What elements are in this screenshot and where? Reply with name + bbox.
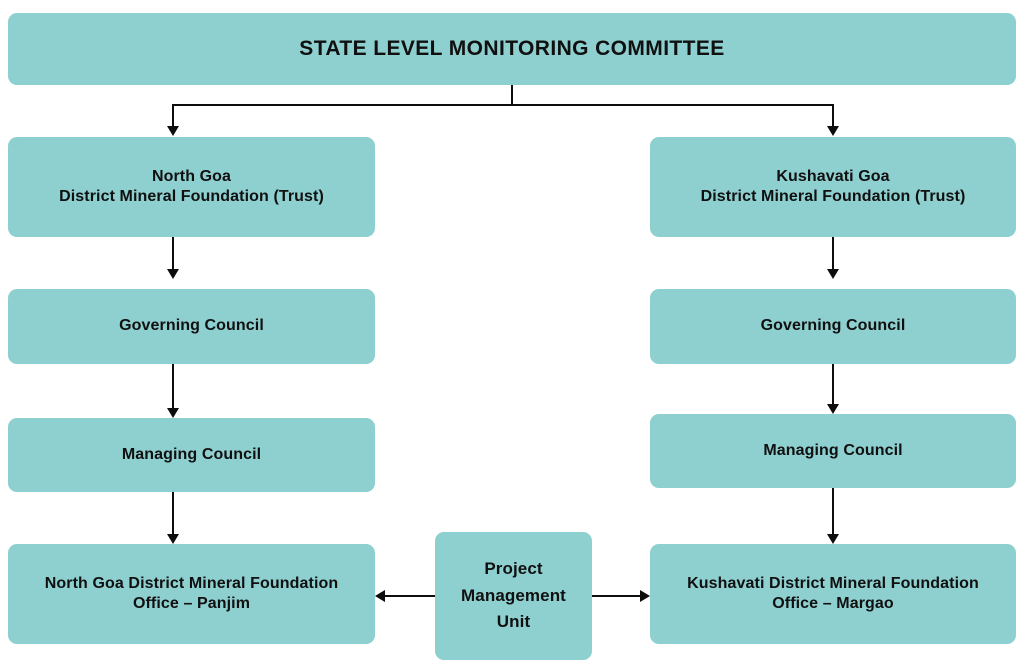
node-left-governing-council[interactable]: Governing Council (8, 289, 375, 364)
connector-pmu-to-right-office (592, 595, 640, 597)
connector-right-trust-to-governing (832, 237, 834, 269)
node-label: Managing Council (122, 445, 261, 465)
connector-left-governing-to-managing (172, 364, 174, 408)
node-kushavati-dmf-office-margao[interactable]: Kushavati District Mineral Foundation Of… (650, 544, 1016, 644)
node-right-governing-council[interactable]: Governing Council (650, 289, 1016, 364)
connector-top-to-right-trust (832, 104, 834, 126)
node-project-management-unit[interactable]: Project Management Unit (435, 532, 592, 660)
arrow-top-to-right-trust-icon (827, 126, 839, 136)
node-label-line-2: Office – Margao (772, 594, 894, 614)
node-label-line-2: Management (461, 583, 566, 609)
arrow-top-to-left-trust-icon (167, 126, 179, 136)
node-north-goa-district-mineral-foundation-trust[interactable]: North Goa District Mineral Foundation (T… (8, 137, 375, 237)
arrow-right-managing-to-office-icon (827, 534, 839, 544)
connector-pmu-to-left-office (385, 595, 435, 597)
connector-left-managing-to-office (172, 492, 174, 534)
node-label-line-2: District Mineral Foundation (Trust) (59, 187, 324, 207)
node-label-line-1: Kushavati Goa (776, 167, 889, 187)
connector-left-trust-to-governing (172, 237, 174, 269)
node-state-level-monitoring-committee[interactable]: STATE LEVEL MONITORING COMMITTEE (8, 13, 1016, 85)
org-chart-canvas: STATE LEVEL MONITORING COMMITTEE North G… (0, 0, 1024, 664)
connector-right-managing-to-office (832, 488, 834, 534)
node-kushavati-goa-district-mineral-foundation-trust[interactable]: Kushavati Goa District Mineral Foundatio… (650, 137, 1016, 237)
node-label: Managing Council (763, 441, 902, 461)
arrow-pmu-to-left-office-icon (375, 590, 385, 602)
arrow-left-trust-to-governing-icon (167, 269, 179, 279)
node-north-goa-dmf-office-panjim[interactable]: North Goa District Mineral Foundation Of… (8, 544, 375, 644)
connector-top-to-left-trust (172, 104, 174, 126)
arrow-left-managing-to-office-icon (167, 534, 179, 544)
node-label-line-2: Office – Panjim (133, 594, 250, 614)
node-label: STATE LEVEL MONITORING COMMITTEE (299, 36, 724, 63)
node-label-line-3: Unit (497, 609, 530, 635)
node-label-line-2: District Mineral Foundation (Trust) (701, 187, 966, 207)
node-right-managing-council[interactable]: Managing Council (650, 414, 1016, 488)
node-label-line-1: North Goa (152, 167, 231, 187)
node-label-line-1: Kushavati District Mineral Foundation (687, 574, 979, 594)
arrow-pmu-to-right-office-icon (640, 590, 650, 602)
node-label-line-1: North Goa District Mineral Foundation (45, 574, 338, 594)
node-label: Governing Council (119, 316, 264, 336)
node-label-line-1: Project (484, 556, 542, 582)
connector-top-stem (511, 85, 513, 105)
node-left-managing-council[interactable]: Managing Council (8, 418, 375, 492)
arrow-right-trust-to-governing-icon (827, 269, 839, 279)
arrow-right-governing-to-managing-icon (827, 404, 839, 414)
connector-top-crossbar (172, 104, 834, 106)
connector-right-governing-to-managing (832, 364, 834, 404)
arrow-left-governing-to-managing-icon (167, 408, 179, 418)
node-label: Governing Council (761, 316, 906, 336)
